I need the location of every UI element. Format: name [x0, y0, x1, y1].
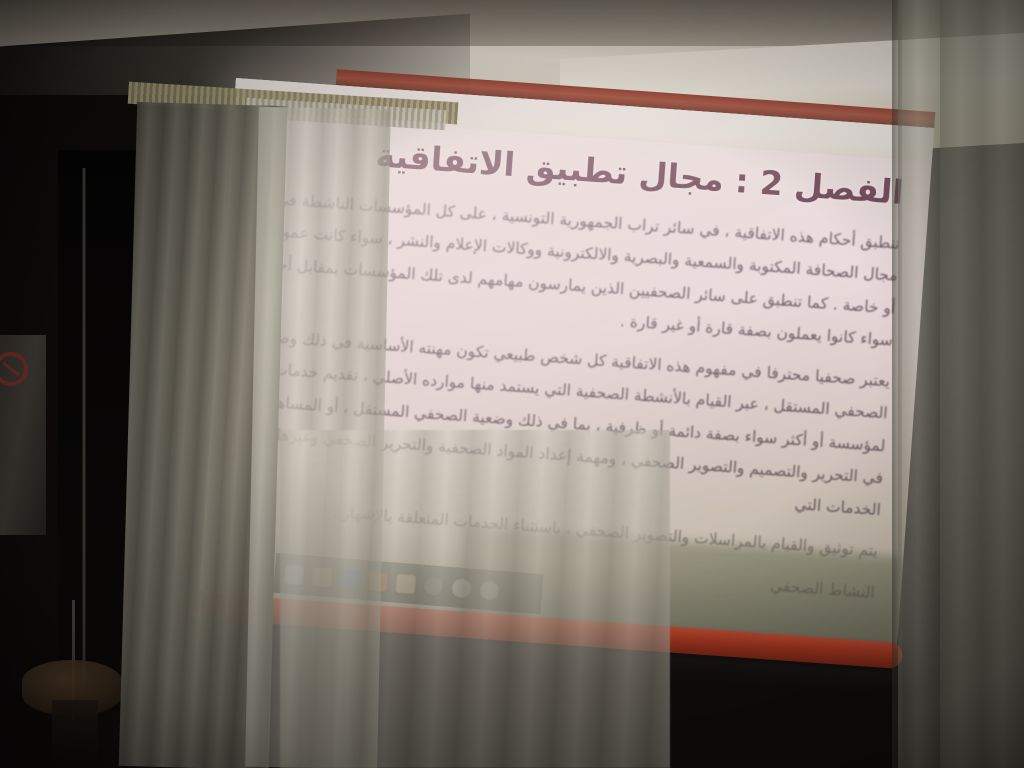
front-draped-curtain[interactable]: [280, 430, 670, 768]
photo-scene: الفصل 2 : مجال تطبيق الاتفاقية تنطبق أحك…: [0, 0, 1024, 768]
stool-base: [52, 700, 98, 768]
vertical-pole: [82, 168, 86, 688]
sheer-curtain-far-right[interactable]: [940, 0, 1024, 768]
